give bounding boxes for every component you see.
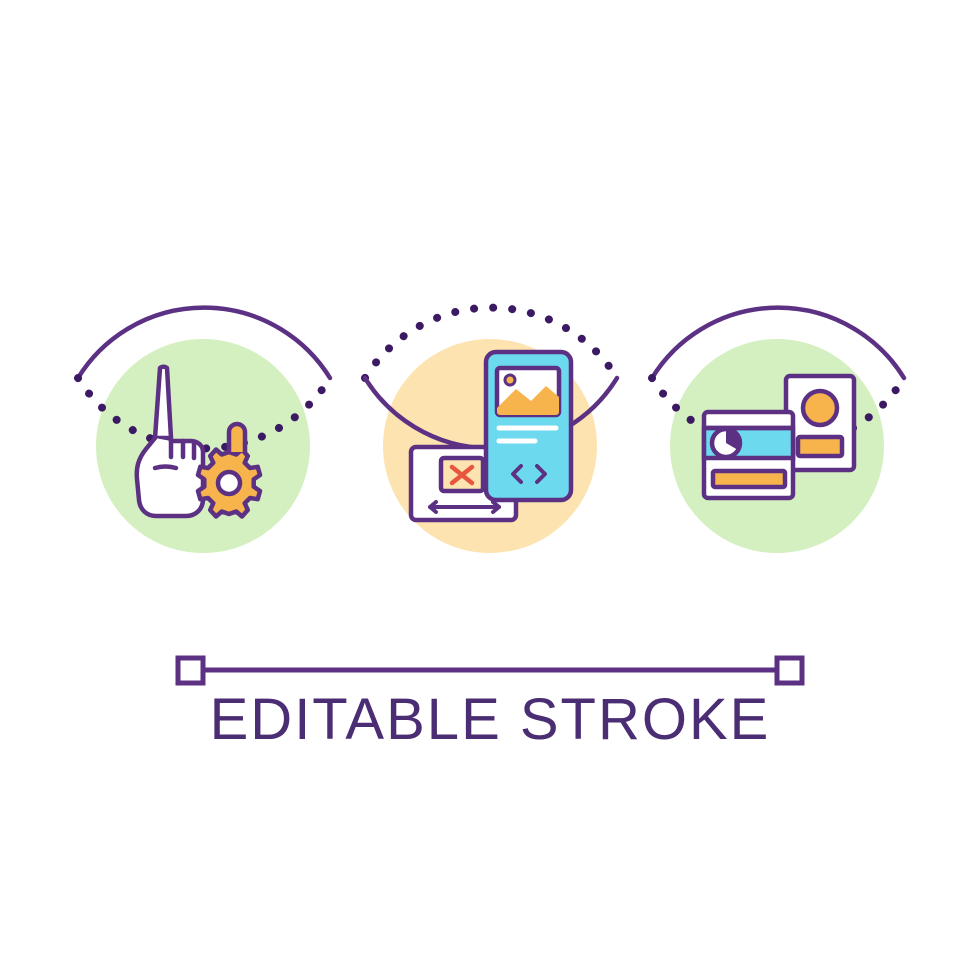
editable-stroke-caption: EDITABLE STROKE [0,686,980,753]
stroke-bar-endpoint-right [777,658,802,683]
gear-stem [229,424,245,452]
node-right-group [652,308,904,553]
stroke-bar-endpoint-left [178,658,203,683]
node-center-group [365,308,617,553]
browser-window-icon [704,412,793,498]
card-icon [786,376,854,470]
orange-circle-icon [803,391,837,425]
editable-stroke-bar [178,658,802,683]
illustration-canvas: EDITABLE STROKE [0,0,980,980]
smartphone-icon [486,352,571,500]
node-left-group [78,308,330,553]
loop-concept-illustration [0,0,980,980]
